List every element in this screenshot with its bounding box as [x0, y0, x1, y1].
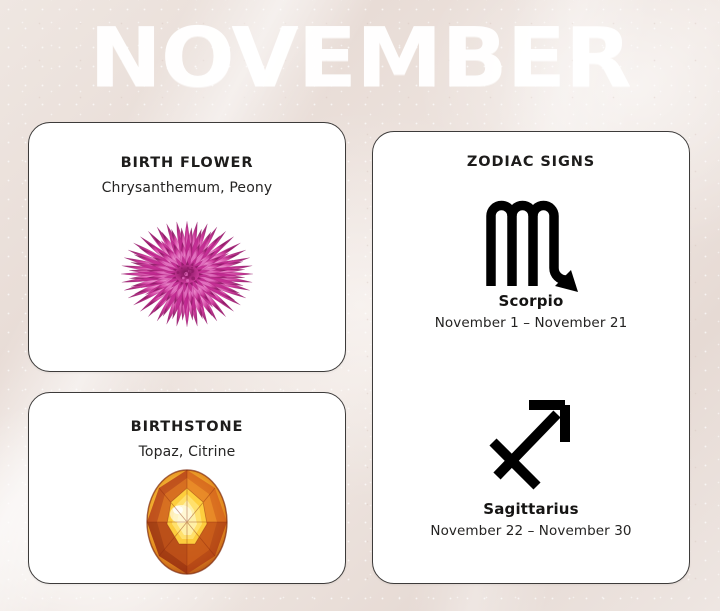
- zodiac-dates-scorpio: November 1 – November 21: [373, 315, 689, 331]
- birth-flower-heading: BIRTH FLOWER: [29, 155, 345, 171]
- birthstone-heading: BIRTHSTONE: [29, 419, 345, 435]
- zodiac-entry-sagittarius: Sagittarius November 22 – November 30: [373, 390, 689, 539]
- poster-canvas: NOVEMBER BIRTH FLOWER Chrysanthemum, Peo…: [0, 0, 720, 611]
- topaz-citrine-gemstone-image: [29, 466, 345, 578]
- birthstone-value: Topaz, Citrine: [29, 444, 345, 460]
- birth-flower-value: Chrysanthemum, Peony: [29, 180, 345, 196]
- zodiac-entry-scorpio: Scorpio November 1 – November 21: [373, 190, 689, 331]
- page-title: NOVEMBER: [0, 18, 720, 100]
- zodiac-heading: ZODIAC SIGNS: [373, 154, 689, 170]
- birth-flower-card: BIRTH FLOWER Chrysanthemum, Peony: [28, 122, 346, 372]
- chrysanthemum-flower-image: [29, 200, 345, 340]
- sagittarius-glyph: [481, 390, 581, 490]
- zodiac-dates-sagittarius: November 22 – November 30: [373, 523, 689, 539]
- scorpio-glyph: [481, 190, 581, 298]
- zodiac-name-sagittarius: Sagittarius: [373, 500, 689, 518]
- zodiac-signs-card: ZODIAC SIGNS Scorpio November 1 – Novemb…: [372, 131, 690, 584]
- zodiac-name-scorpio: Scorpio: [373, 292, 689, 310]
- birthstone-card: BIRTHSTONE Topaz, Citrine: [28, 392, 346, 584]
